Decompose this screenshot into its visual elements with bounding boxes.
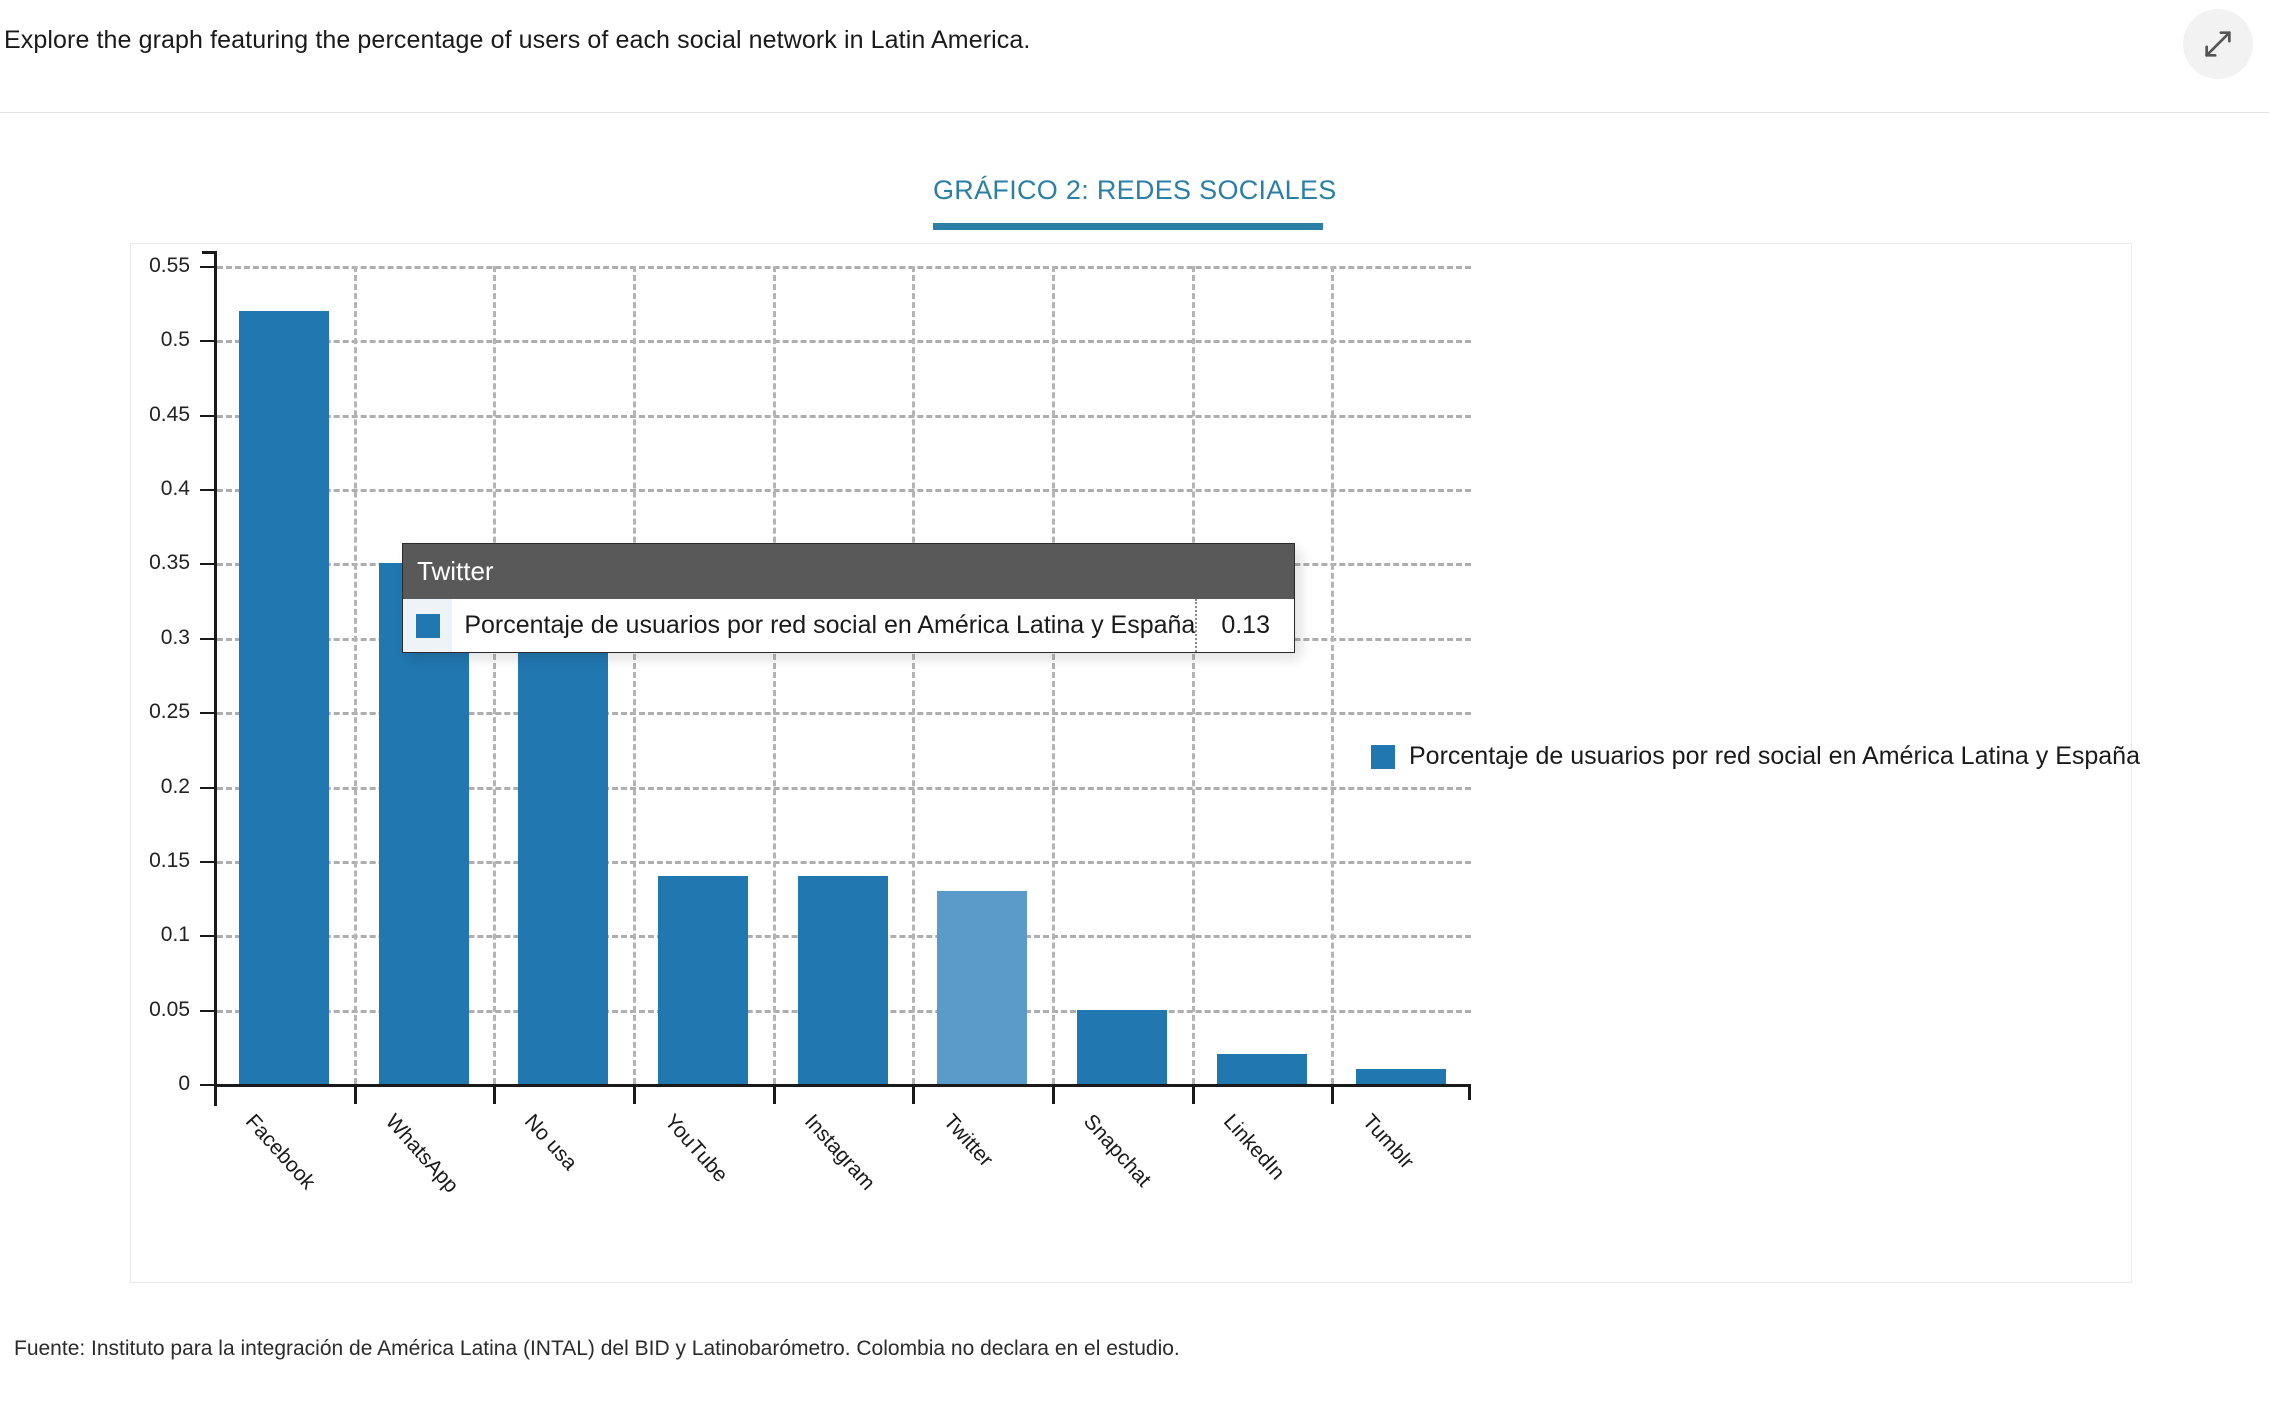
- expand-icon[interactable]: [2183, 9, 2253, 79]
- y-axis-label: 0.25: [149, 700, 190, 724]
- x-axis-label: WhatsApp: [380, 1110, 463, 1198]
- gridline-horizontal: [217, 415, 1471, 418]
- bar-instagram[interactable]: [798, 876, 888, 1084]
- y-axis-label: 0.45: [149, 403, 190, 427]
- y-axis-label: 0.35: [149, 551, 190, 575]
- y-axis-label: 0.1: [161, 923, 190, 947]
- y-axis-label: 0.05: [149, 998, 190, 1022]
- gridline-vertical: [354, 266, 357, 1084]
- bar-no-usa[interactable]: [518, 638, 608, 1084]
- y-axis-tick: [200, 861, 216, 863]
- bar-linkedin[interactable]: [1217, 1054, 1307, 1084]
- x-axis-label: LinkedIn: [1218, 1110, 1289, 1185]
- bar-snapchat[interactable]: [1077, 1010, 1167, 1084]
- chart-page: Explore the graph featuring the percenta…: [0, 0, 2269, 1402]
- chart-tooltip: Twitter Porcentaje de usuarios por red s…: [402, 543, 1295, 653]
- gridline-horizontal: [217, 340, 1471, 343]
- x-axis-tick: [493, 1087, 496, 1104]
- y-axis-tick: [200, 415, 216, 417]
- y-axis-tick: [200, 563, 216, 565]
- chart-title: GRÁFICO 2: REDES SOCIALES: [933, 175, 1323, 206]
- tooltip-title: Twitter: [402, 543, 1295, 599]
- x-axis-label: YouTube: [659, 1110, 732, 1187]
- x-axis-cap: [1468, 1084, 1471, 1100]
- x-axis-tick: [912, 1087, 915, 1104]
- x-axis-tick: [1331, 1087, 1334, 1104]
- y-axis-tick: [200, 712, 216, 714]
- gridline-vertical: [1331, 266, 1334, 1084]
- gridline-vertical: [912, 266, 915, 1084]
- y-axis-label: 0.2: [161, 775, 190, 799]
- x-axis-label: Snapchat: [1078, 1110, 1155, 1192]
- y-axis-label: 0.5: [161, 328, 190, 352]
- bar-tumblr[interactable]: [1356, 1069, 1446, 1084]
- y-axis-label: 0.4: [161, 477, 190, 501]
- tooltip-row: Porcentaje de usuarios por red social en…: [402, 599, 1295, 653]
- plot-area: 00.050.10.150.20.250.30.350.40.450.50.55…: [214, 266, 1471, 1084]
- page-header: Explore the graph featuring the percenta…: [0, 0, 2269, 113]
- y-axis-line: [214, 251, 217, 1106]
- y-axis-label: 0.15: [149, 849, 190, 873]
- tooltip-series-label: Porcentaje de usuarios por red social en…: [452, 611, 1195, 640]
- x-axis-tick: [1192, 1087, 1195, 1104]
- x-axis-tick: [1052, 1087, 1055, 1104]
- x-axis-label: Facebook: [240, 1110, 320, 1195]
- legend-label: Porcentaje de usuarios por red social en…: [1409, 742, 2140, 771]
- gridline-horizontal: [217, 266, 1471, 269]
- y-axis-cap: [202, 251, 216, 254]
- x-axis-line: [214, 1084, 1471, 1087]
- x-axis-tick: [354, 1087, 357, 1104]
- y-axis-tick: [200, 1010, 216, 1012]
- chart-title-underline: [933, 223, 1323, 230]
- y-axis-tick: [200, 935, 216, 937]
- x-axis-tick: [633, 1087, 636, 1104]
- bar-youtube[interactable]: [658, 876, 748, 1084]
- x-axis-label: No usa: [519, 1110, 581, 1176]
- gridline-vertical: [1052, 266, 1055, 1084]
- y-axis-label: 0.3: [161, 626, 190, 650]
- x-axis-label: Tumblr: [1357, 1110, 1418, 1174]
- x-axis-tick: [773, 1087, 776, 1104]
- bar-twitter[interactable]: [937, 891, 1027, 1084]
- y-axis-tick: [200, 340, 216, 342]
- chart-legend[interactable]: Porcentaje de usuarios por red social en…: [1371, 742, 2140, 771]
- y-axis-tick: [200, 489, 216, 491]
- y-axis-label: 0: [178, 1072, 190, 1096]
- y-axis-tick: [200, 1084, 216, 1086]
- gridline-vertical: [773, 266, 776, 1084]
- x-axis-label: Twitter: [938, 1110, 997, 1172]
- expand-diagonal-arrows-icon: [2201, 27, 2235, 61]
- x-axis-label: Instagram: [799, 1110, 879, 1195]
- source-note: Fuente: Instituto para la integración de…: [14, 1337, 1180, 1361]
- chart-title-block: GRÁFICO 2: REDES SOCIALES: [933, 175, 1323, 230]
- y-axis-label: 0.55: [149, 254, 190, 278]
- tooltip-swatch-cell: [403, 599, 452, 652]
- tooltip-series-swatch-icon: [416, 614, 440, 638]
- gridline-horizontal: [217, 489, 1471, 492]
- y-axis-tick: [200, 266, 216, 268]
- gridline-vertical: [1192, 266, 1195, 1084]
- y-axis-tick: [200, 787, 216, 789]
- y-axis-tick: [200, 638, 216, 640]
- gridline-vertical: [493, 266, 496, 1084]
- gridline-vertical: [633, 266, 636, 1084]
- bar-facebook[interactable]: [239, 311, 329, 1084]
- prompt-text: Explore the graph featuring the percenta…: [4, 26, 1030, 55]
- tooltip-value: 0.13: [1197, 611, 1294, 640]
- legend-swatch-icon: [1371, 745, 1395, 769]
